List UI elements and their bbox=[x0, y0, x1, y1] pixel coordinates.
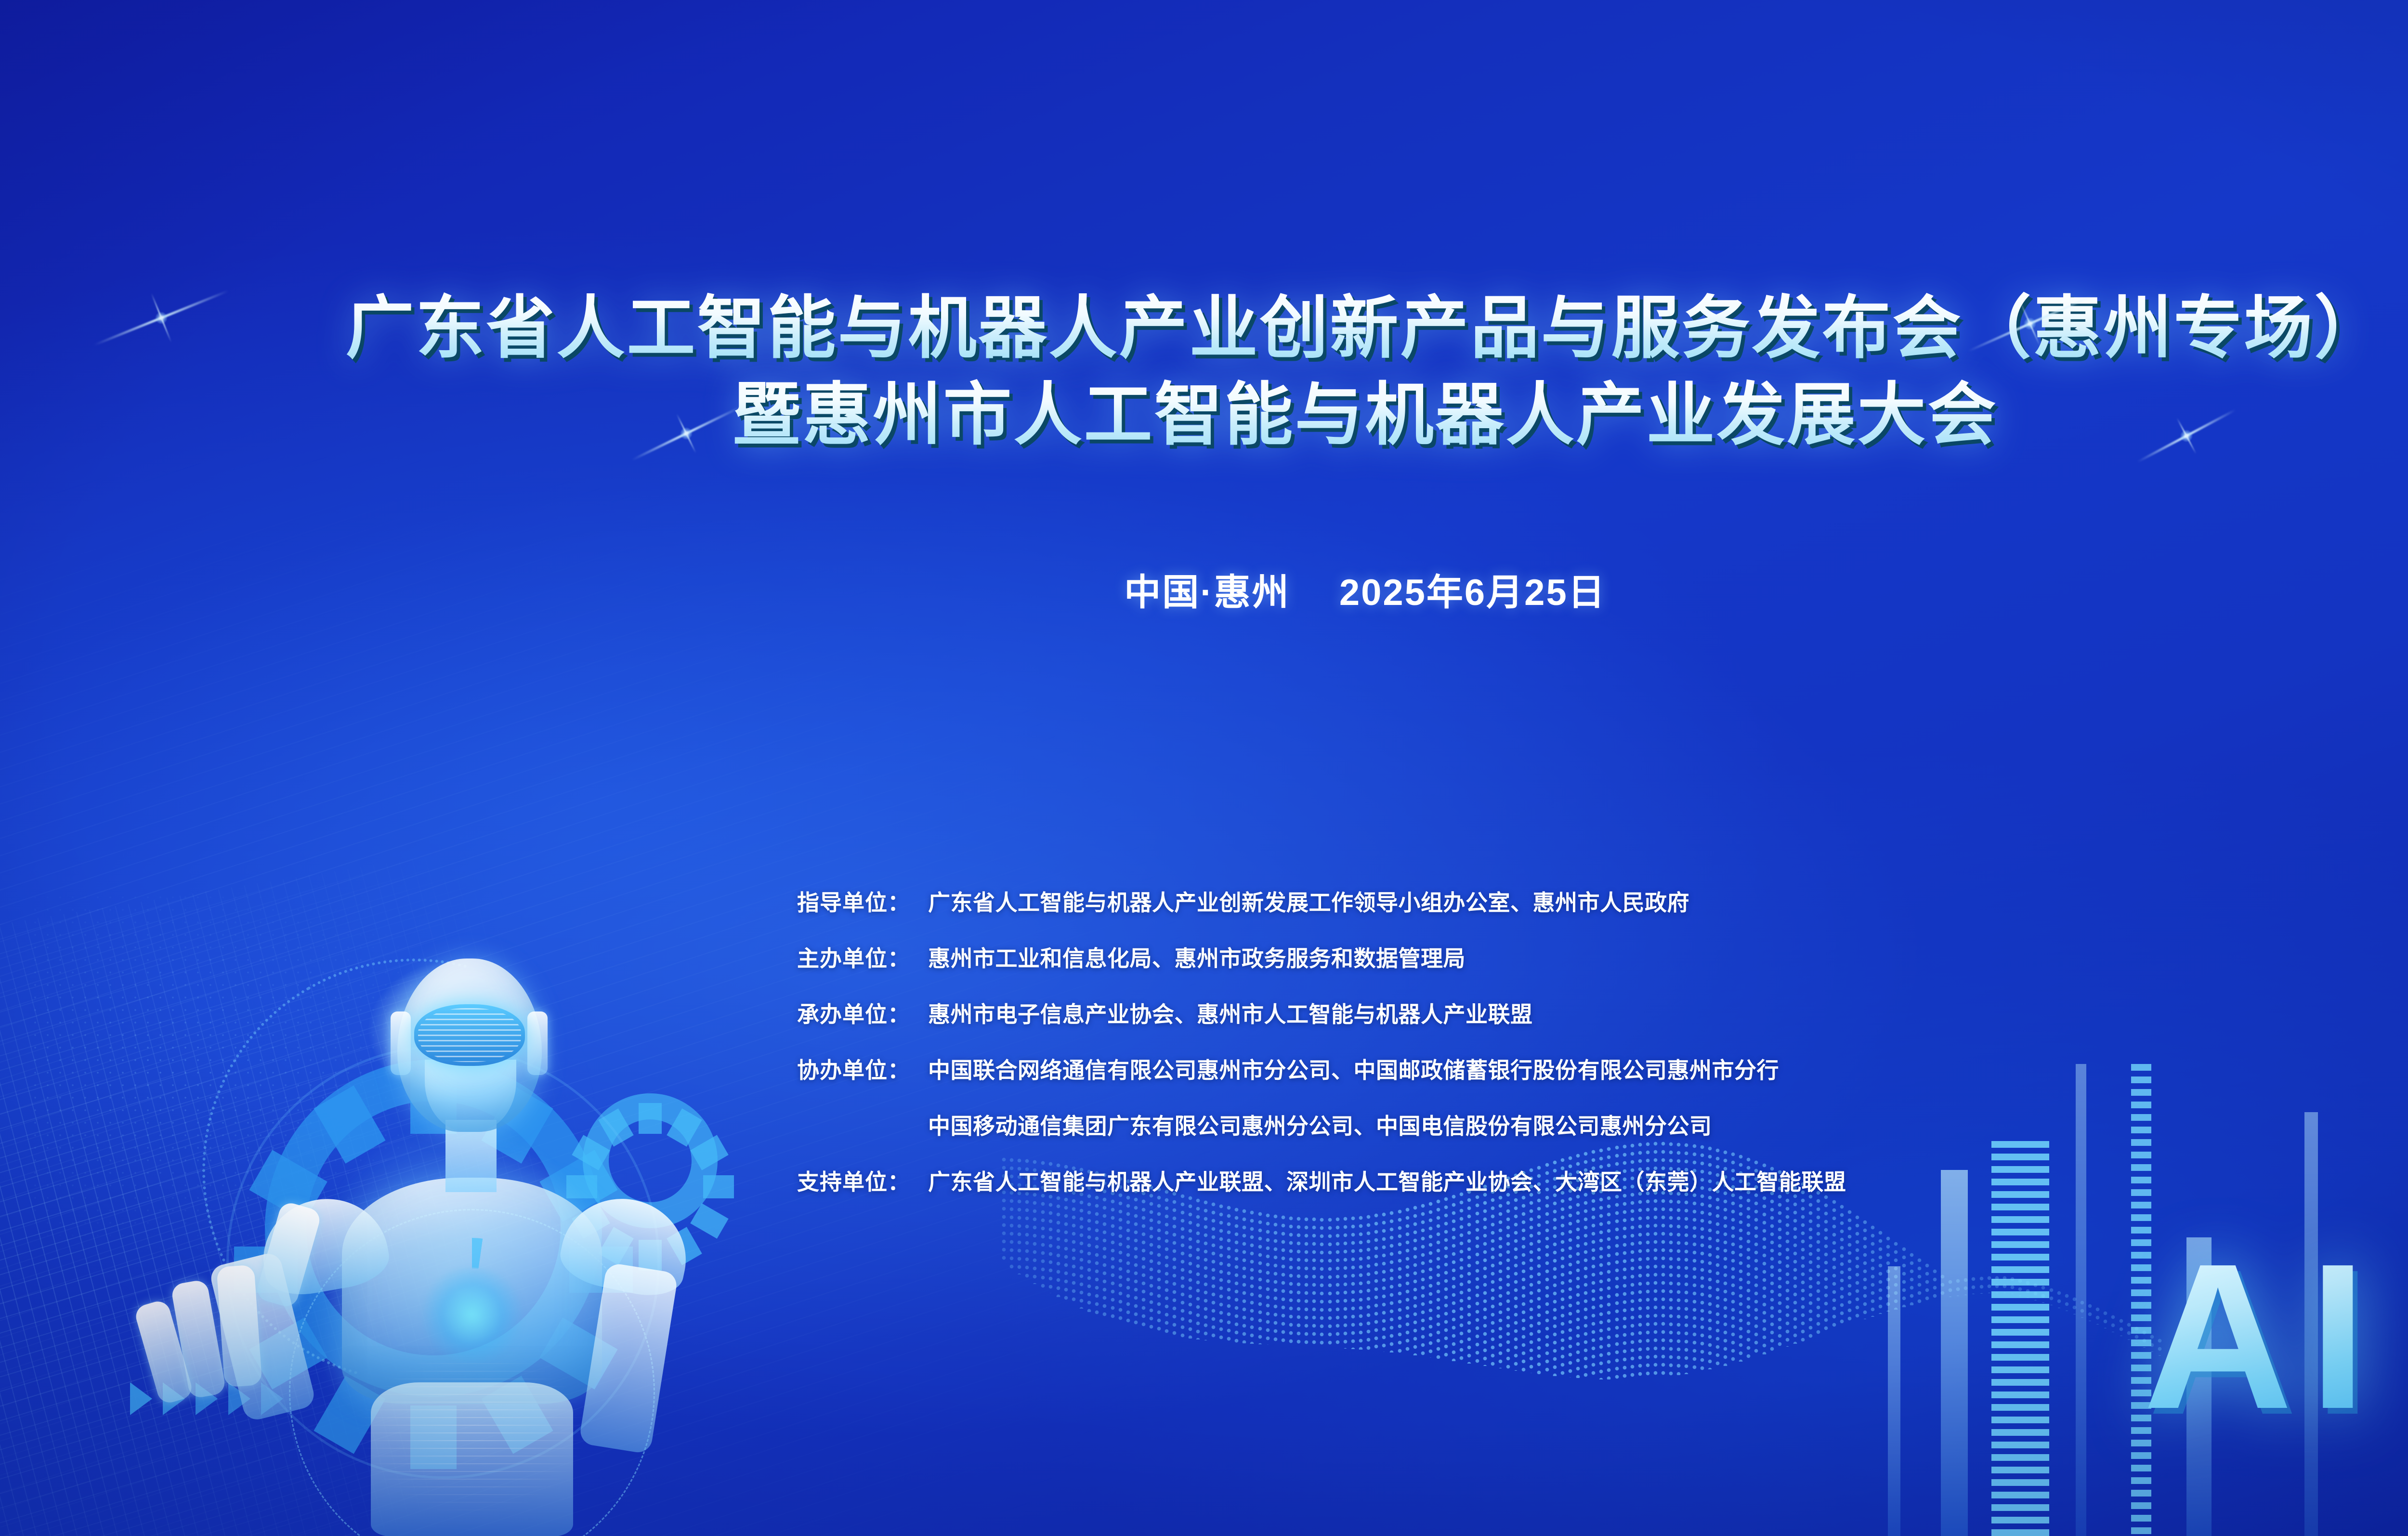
title-line-2: 暨惠州市人工智能与机器人产业发展大会 bbox=[0, 372, 2408, 459]
ai-logo-text: AI bbox=[2143, 1233, 2383, 1440]
wave-column bbox=[1211, 1200, 1216, 1341]
equalizer-bar bbox=[2076, 1064, 2086, 1536]
subtitle-date: 2025年6月25日 bbox=[1339, 572, 1606, 613]
robot-figure bbox=[82, 901, 722, 1536]
wave-column bbox=[1405, 1206, 1410, 1354]
wave-column bbox=[1312, 1215, 1316, 1346]
organizer-value: 中国移动通信集团广东有限公司惠州分公司、中国电信股份有限公司惠州分公司 bbox=[928, 1109, 1712, 1141]
wave-column bbox=[1273, 1212, 1278, 1345]
organizer-label: 主办单位： bbox=[797, 941, 928, 973]
organizer-value: 广东省人工智能与机器人产业联盟、深圳市人工智能产业协会、大湾区（东莞）人工智能联… bbox=[928, 1165, 1846, 1196]
title-line-1: 广东省人工智能与机器人产业创新产品与服务发布会（惠州专场） bbox=[0, 285, 2408, 372]
wave-column bbox=[1266, 1211, 1270, 1345]
wave-column bbox=[1847, 1208, 1852, 1325]
organizer-label: 支持单位： bbox=[797, 1165, 928, 1196]
wave-column bbox=[1258, 1210, 1262, 1344]
organizer-row: 承办单位：惠州市电子信息产业协会、惠州市人工智能与机器人产业联盟 bbox=[797, 997, 1846, 1053]
wave-column bbox=[1328, 1216, 1332, 1348]
wave-column bbox=[1382, 1210, 1386, 1352]
wave-column bbox=[1389, 1209, 1394, 1352]
wave-column bbox=[1413, 1204, 1417, 1355]
robot-visor bbox=[414, 1004, 525, 1066]
robot-ear-left bbox=[391, 1011, 411, 1075]
organizer-value: 惠州市工业和信息化局、惠州市政务服务和数据管理局 bbox=[928, 941, 1466, 973]
wave-column bbox=[1840, 1203, 1844, 1327]
organizer-row: 主办单位：惠州市工业和信息化局、惠州市政务服务和数据管理局 bbox=[797, 941, 1846, 997]
wave-column bbox=[1335, 1215, 1340, 1348]
segmented-equalizer-bar bbox=[1991, 1141, 2049, 1536]
wave-column bbox=[1343, 1215, 1348, 1348]
title-block: 广东省人工智能与机器人产业创新产品与服务发布会（惠州专场） 暨惠州市人工智能与机… bbox=[0, 285, 2408, 459]
wave-column bbox=[1296, 1215, 1301, 1346]
subtitle-location: 中国·惠州 bbox=[1124, 572, 1290, 613]
wave-column bbox=[1398, 1208, 1402, 1353]
wave-column bbox=[1421, 1202, 1425, 1356]
wave-column bbox=[1219, 1202, 1223, 1342]
equalizer-bar bbox=[1941, 1170, 1968, 1536]
organizer-row: 支持单位：广东省人工智能与机器人产业联盟、深圳市人工智能产业协会、大湾区（东莞）… bbox=[797, 1165, 1846, 1221]
organizer-row: 协办单位：中国移动通信集团广东有限公司惠州分公司、中国电信股份有限公司惠州分公司 bbox=[797, 1109, 1846, 1165]
wave-column bbox=[1234, 1206, 1239, 1343]
wave-column bbox=[1242, 1207, 1246, 1343]
wave-column bbox=[1351, 1214, 1355, 1349]
organizer-label: 承办单位： bbox=[797, 997, 928, 1029]
wave-column bbox=[1863, 1218, 1867, 1319]
robot-chest-core-glow bbox=[419, 1267, 525, 1363]
organizer-value: 惠州市电子信息产业协会、惠州市人工智能与机器人产业联盟 bbox=[928, 997, 1533, 1029]
organizer-row: 协办单位：中国联合网络通信有限公司惠州市分公司、中国邮政储蓄银行股份有限公司惠州… bbox=[797, 1053, 1846, 1109]
wave-column bbox=[1855, 1213, 1859, 1322]
wave-column bbox=[1374, 1211, 1378, 1351]
gear-tooth bbox=[703, 1175, 734, 1198]
robot-hand bbox=[193, 1209, 337, 1344]
wave-column bbox=[1366, 1213, 1371, 1351]
wave-column bbox=[1428, 1200, 1433, 1358]
wave-column bbox=[1250, 1208, 1254, 1344]
conference-banner: AI 广东省人工智能与机器人产业创新产品与服务发布会（惠州专场） 暨惠州市人工智… bbox=[0, 0, 2408, 1536]
gear-tooth bbox=[667, 1108, 702, 1146]
robot-ear-right bbox=[527, 1011, 548, 1075]
organizer-label: 指导单位： bbox=[797, 885, 928, 917]
organizer-list: 指导单位：广东省人工智能与机器人产业创新发展工作领导小组办公室、惠州市人民政府主… bbox=[797, 885, 1846, 1221]
subtitle: 中国·惠州 2025年6月25日 bbox=[0, 563, 2408, 616]
equalizer-bar bbox=[1888, 1266, 1900, 1536]
wave-column bbox=[1436, 1197, 1440, 1359]
wave-column bbox=[1227, 1204, 1231, 1342]
wave-column bbox=[1281, 1213, 1285, 1345]
organizer-value: 中国联合网络通信有限公司惠州市分公司、中国邮政储蓄银行股份有限公司惠州市分行 bbox=[928, 1053, 1779, 1085]
gear-tooth bbox=[639, 1103, 662, 1134]
organizer-label: 协办单位： bbox=[797, 1053, 928, 1085]
robot-scanlines bbox=[352, 1363, 592, 1536]
wave-column bbox=[1359, 1214, 1363, 1350]
wave-column bbox=[1289, 1214, 1293, 1346]
organizer-value: 广东省人工智能与机器人产业创新发展工作领导小组办公室、惠州市人民政府 bbox=[928, 885, 1689, 917]
wave-column bbox=[1320, 1216, 1324, 1347]
wave-column bbox=[1304, 1215, 1309, 1346]
gear-tooth bbox=[690, 1135, 728, 1170]
gear-tooth bbox=[690, 1203, 728, 1239]
organizer-row: 指导单位：广东省人工智能与机器人产业创新发展工作领导小组办公室、惠州市人民政府 bbox=[797, 885, 1846, 941]
